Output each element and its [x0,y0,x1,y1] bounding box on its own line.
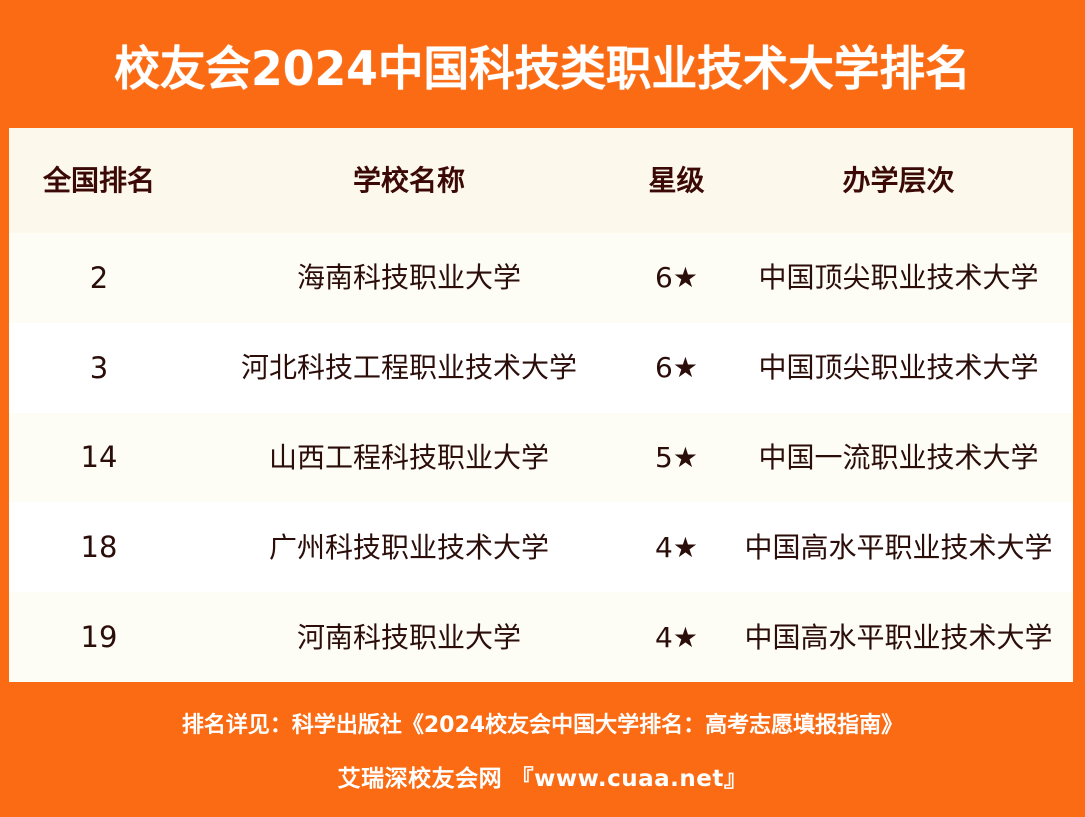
cell-rank: 18 [9,502,189,592]
table-header-row: 全国排名 学校名称 星级 办学层次 [9,128,1073,233]
page-title: 校友会2024中国科技类职业技术大学排名 [114,30,970,99]
table-row: 3 河北科技工程职业技术大学 6★ 中国顶尖职业技术大学 [9,323,1073,413]
footer-website-line: 艾瑞深校友会网 『www.cuaa.net』 [338,759,748,793]
cell-rank: 14 [9,413,189,503]
cell-level: 中国一流职业技术大学 [724,413,1073,503]
footer-band: 排名详见：科学出版社《2024校友会中国大学排名：高考志愿填报指南》 艾瑞深校友… [0,682,1085,817]
cell-level: 中国顶尖职业技术大学 [724,233,1073,323]
cell-star: 4★ [629,502,724,592]
column-header-name: 学校名称 [189,128,629,233]
cell-level: 中国高水平职业技术大学 [724,592,1073,682]
cell-rank: 2 [9,233,189,323]
cell-level: 中国高水平职业技术大学 [724,502,1073,592]
cell-level: 中国顶尖职业技术大学 [724,323,1073,413]
column-header-level: 办学层次 [724,128,1073,233]
cell-name: 山西工程科技职业大学 [189,413,629,503]
cell-rank: 3 [9,323,189,413]
cell-name: 广州科技职业技术大学 [189,502,629,592]
table-row: 2 海南科技职业大学 6★ 中国顶尖职业技术大学 [9,233,1073,323]
table-row: 19 河南科技职业大学 4★ 中国高水平职业技术大学 [9,592,1073,682]
table-row: 14 山西工程科技职业大学 5★ 中国一流职业技术大学 [9,413,1073,503]
table-row: 18 广州科技职业技术大学 4★ 中国高水平职业技术大学 [9,502,1073,592]
column-header-star: 星级 [629,128,724,233]
cell-star: 4★ [629,592,724,682]
cell-rank: 19 [9,592,189,682]
title-band: 校友会2024中国科技类职业技术大学排名 [0,0,1085,128]
ranking-poster: 校友会2024中国科技类职业技术大学排名 全国排名 学校名称 星级 办学层次 2… [0,0,1085,817]
column-header-rank: 全国排名 [9,128,189,233]
cell-star: 6★ [629,233,724,323]
cell-name: 海南科技职业大学 [189,233,629,323]
cell-star: 5★ [629,413,724,503]
cell-name: 河南科技职业大学 [189,592,629,682]
ranking-table: 全国排名 学校名称 星级 办学层次 2 海南科技职业大学 6★ 中国顶尖职业技术… [9,128,1073,682]
footer-source-line: 排名详见：科学出版社《2024校友会中国大学排名：高考志愿填报指南》 [182,707,903,739]
cell-star: 6★ [629,323,724,413]
cell-name: 河北科技工程职业技术大学 [189,323,629,413]
